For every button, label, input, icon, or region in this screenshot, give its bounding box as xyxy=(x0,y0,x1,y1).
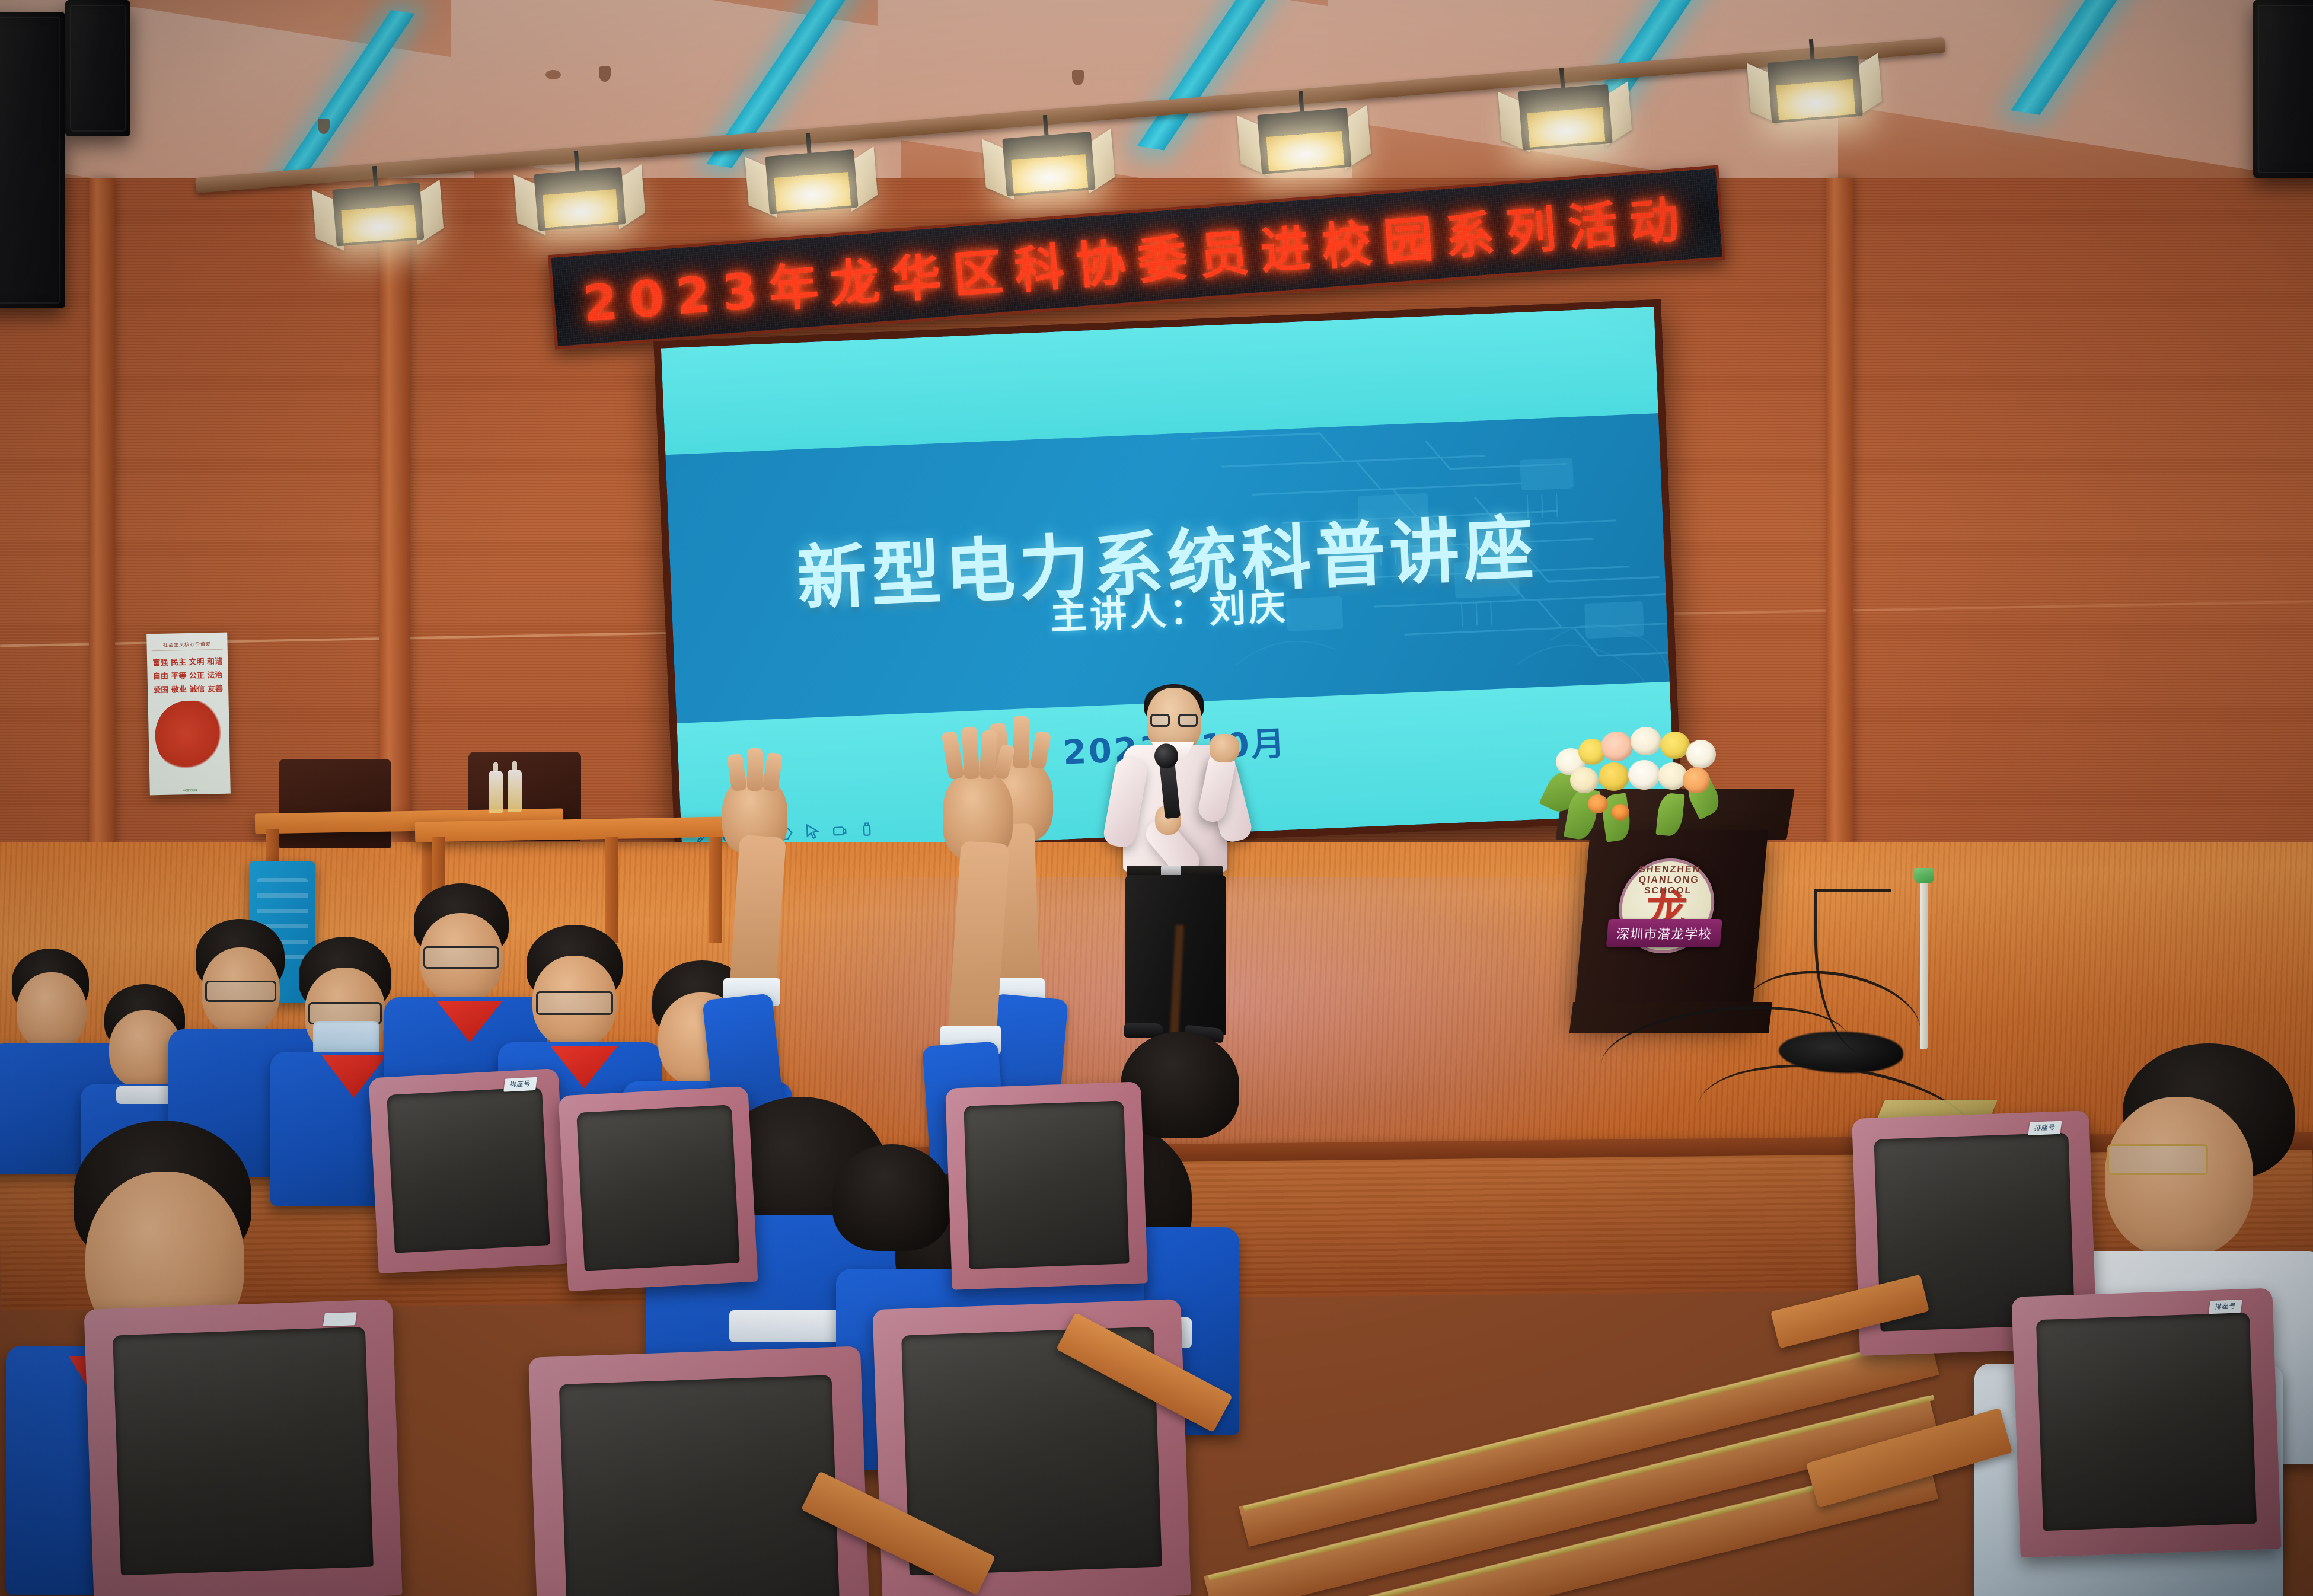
auditorium-seat[interactable]: 排座号 xyxy=(2011,1288,2281,1557)
poster-footer: 中国文明网 xyxy=(150,788,231,794)
poster-values-grid: 富强 民主 文明 和谐 自由 平等 公正 法治 爱国 敬业 诚信 友善 xyxy=(152,655,224,695)
wall-speaker xyxy=(65,0,130,136)
sprinkler-head xyxy=(318,119,330,134)
glasses-icon xyxy=(2107,1144,2208,1175)
seat-back-panel xyxy=(387,1087,550,1253)
stage-light xyxy=(765,149,858,215)
emblem-english-text: SHENZHEN QIANLONG SCHOOL xyxy=(1620,864,1718,896)
auditorium-seat[interactable] xyxy=(84,1299,402,1596)
glasses-icon xyxy=(1150,714,1198,727)
stage-light xyxy=(1002,132,1095,197)
student-head xyxy=(17,972,87,1049)
auditorium-photo: 2023年龙华区科协委员进校园系列活动 xyxy=(0,0,2313,1596)
seat-number-label: 排座号 xyxy=(2028,1121,2062,1135)
sprinkler-head xyxy=(1072,70,1084,85)
seat-back-panel xyxy=(964,1100,1130,1269)
student-head xyxy=(2105,1097,2253,1257)
school-emblem: SHENZHEN QIANLONG SCHOOL 龙 深圳市潜龙学校 xyxy=(1615,858,1718,953)
wall-speaker xyxy=(0,12,65,308)
seat-back-panel xyxy=(113,1327,374,1576)
seat-number-label xyxy=(323,1312,356,1326)
seat-back-panel xyxy=(576,1105,740,1271)
glasses-icon xyxy=(205,981,276,1002)
auditorium-seat[interactable] xyxy=(528,1346,871,1596)
poster-value: 法治 xyxy=(206,669,224,681)
water-bottle xyxy=(489,771,503,813)
seat-number-label: 排座号 xyxy=(2209,1300,2242,1314)
sprinkler-head xyxy=(599,66,611,82)
glasses-icon xyxy=(536,991,613,1015)
core-values-poster: 社会主义核心价值观 富强 民主 文明 和谐 自由 平等 公正 法治 爱国 敬业 … xyxy=(146,633,231,796)
auditorium-seat[interactable]: 排座号 xyxy=(369,1068,569,1273)
flower-arrangement xyxy=(1542,706,1755,830)
glasses-icon xyxy=(423,946,499,969)
poster-value: 和谐 xyxy=(206,655,223,667)
stage-light xyxy=(1257,108,1352,174)
poster-value: 友善 xyxy=(206,682,224,694)
poster-value: 民主 xyxy=(170,656,187,668)
water-bottle xyxy=(508,770,522,812)
student-hair xyxy=(832,1144,951,1251)
poster-value: 自由 xyxy=(152,670,169,682)
poster-value: 诚信 xyxy=(189,682,206,694)
microphone-stand-head xyxy=(1914,868,1934,883)
finger xyxy=(962,726,980,779)
seat-back-panel xyxy=(2036,1312,2257,1531)
poster-value: 公正 xyxy=(188,669,205,681)
stage-light xyxy=(332,183,424,247)
wall-speaker xyxy=(2253,0,2313,178)
stage-light xyxy=(1767,56,1863,123)
poster-value: 平等 xyxy=(170,669,187,681)
raised-forearm xyxy=(729,835,786,992)
slide-band-middle: 新型电力系统科普讲座 主讲人：刘庆 xyxy=(665,413,1670,723)
auditorium-seat[interactable] xyxy=(559,1086,758,1291)
dark-wooden-chair xyxy=(279,759,391,848)
seat-number-label: 排座号 xyxy=(503,1077,537,1092)
stage-light xyxy=(534,167,626,231)
poster-illustration xyxy=(154,700,224,773)
auditorium-seat[interactable] xyxy=(945,1081,1148,1289)
emblem-chinese-banner: 深圳市潜龙学校 xyxy=(1606,919,1722,947)
poster-value: 富强 xyxy=(152,656,169,668)
stage-light xyxy=(1518,84,1613,151)
poster-header: 社会主义核心价值观 xyxy=(151,641,222,652)
finger xyxy=(1013,716,1029,768)
poster-value: 敬业 xyxy=(170,683,187,695)
ceiling-vent xyxy=(545,70,561,79)
finger xyxy=(747,748,763,791)
poster-value: 文明 xyxy=(188,655,205,667)
podium: SHENZHEN QIANLONG SCHOOL 龙 深圳市潜龙学校 xyxy=(1574,830,1768,1020)
microphone-floor-stand xyxy=(1920,877,1928,1049)
poster-value: 爱国 xyxy=(152,684,170,695)
seat-back-panel xyxy=(559,1375,840,1596)
